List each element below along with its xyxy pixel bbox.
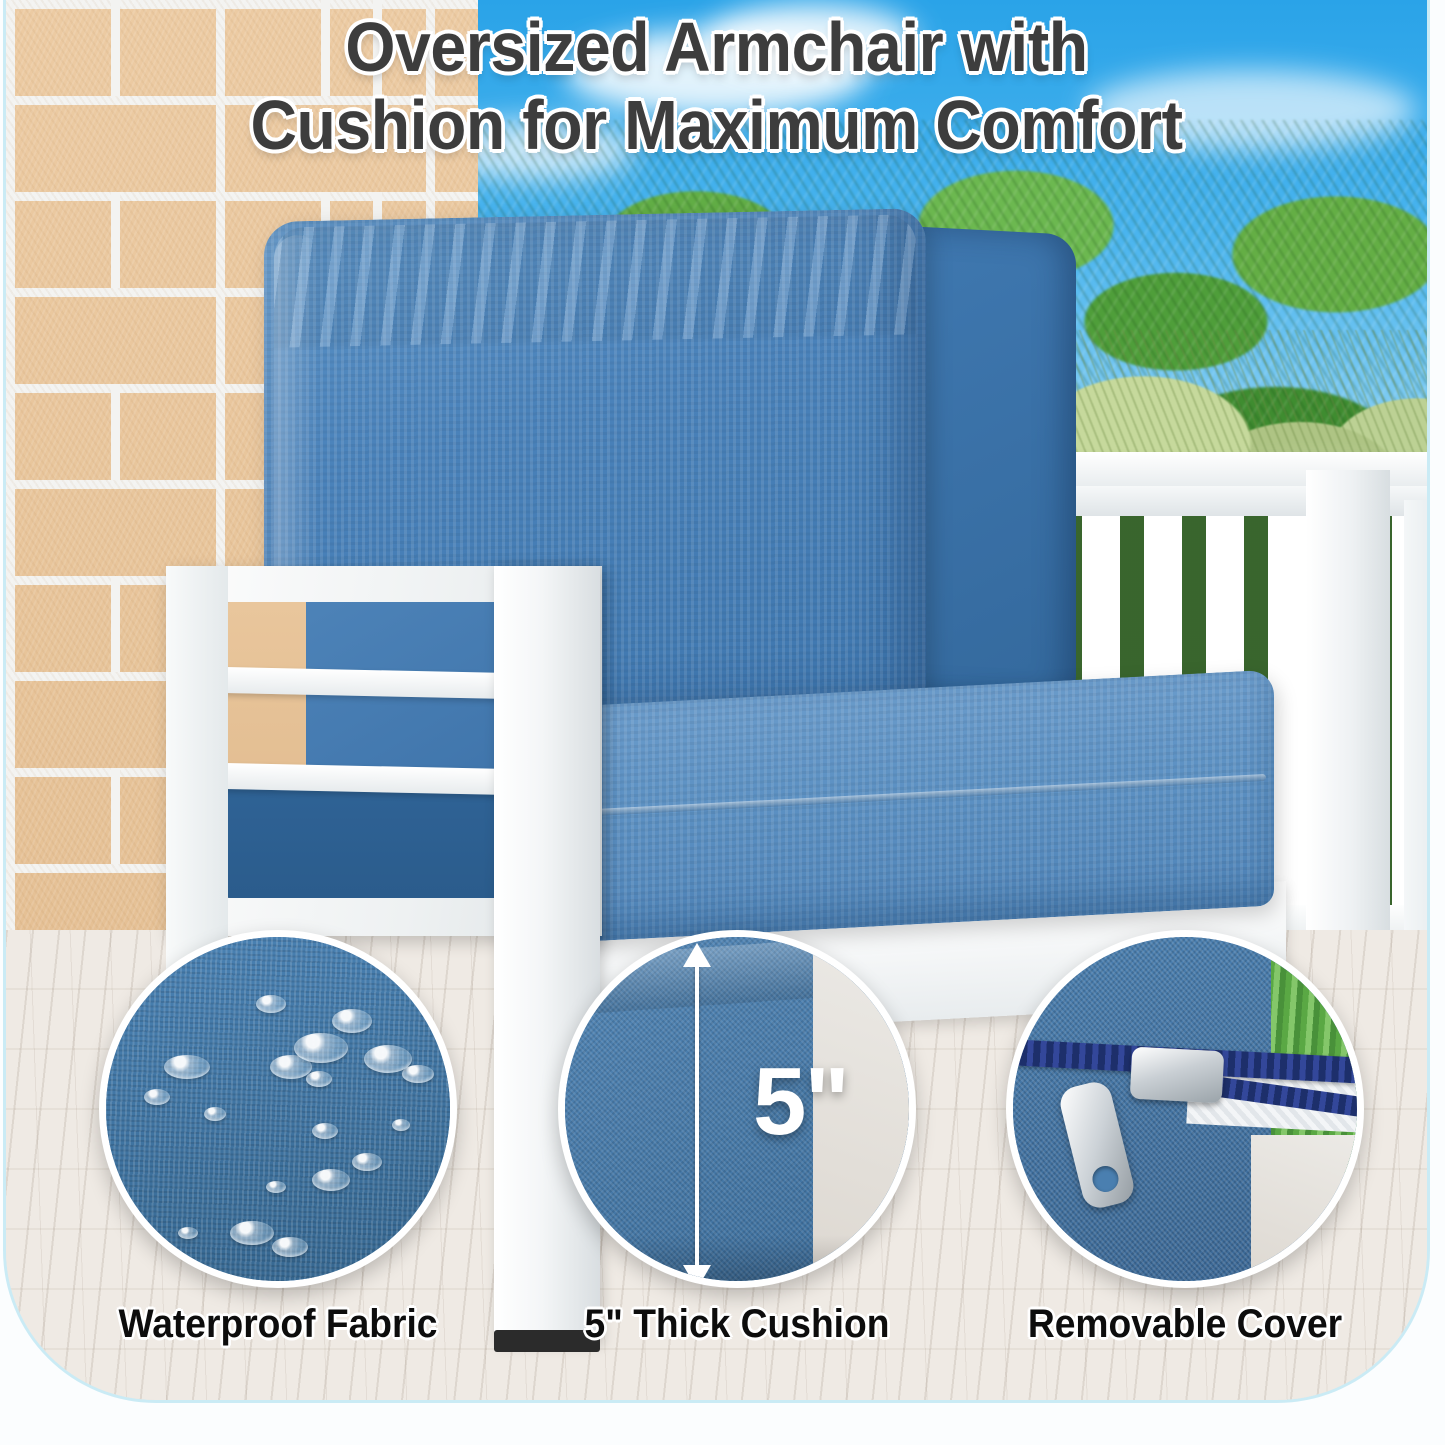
zipper-pull-tab	[1057, 1079, 1137, 1212]
water-droplets-icon	[106, 937, 450, 1281]
zipper-icon	[1013, 937, 1357, 1281]
product-photo-plate: Oversized Armchair with Cushion for Maxi…	[6, 0, 1427, 1400]
cushion-channel-texture	[274, 214, 916, 347]
cushion-fabric-closeup: 5"	[565, 937, 909, 1281]
feature-callout-thickness: 5" 5" Thick Cushion	[558, 930, 916, 1288]
armrest-cutout-seat-peek	[214, 778, 514, 898]
railing-post	[1404, 500, 1427, 970]
feature-caption-removable-cover: Removable Cover	[1028, 1302, 1342, 1347]
armrest-rear-post	[166, 566, 228, 976]
zipper-slider	[1130, 1047, 1225, 1104]
cloud-shape	[706, 4, 916, 74]
feature-image-bubble: 5"	[558, 930, 916, 1288]
dimension-arrow-icon	[695, 963, 699, 1269]
feature-caption-thickness: 5" Thick Cushion	[585, 1302, 890, 1347]
dimension-value-label: 5"	[753, 1047, 848, 1157]
cushion-welt-seam	[576, 774, 1266, 817]
feature-callout-waterproof: Waterproof Fabric	[99, 930, 457, 1288]
feature-image-bubble	[99, 930, 457, 1288]
feature-caption-waterproof: Waterproof Fabric	[119, 1302, 438, 1347]
armrest-cutout	[214, 602, 514, 898]
cushion-base-shadow	[558, 1235, 916, 1281]
railing-post	[1306, 470, 1390, 970]
product-marketing-image: Oversized Armchair with Cushion for Maxi…	[0, 0, 1445, 1445]
seat-cushion	[568, 670, 1274, 943]
floor-peek	[1251, 1135, 1361, 1285]
feature-image-bubble	[1006, 930, 1364, 1288]
feature-callout-removable-cover: Removable Cover	[1006, 930, 1364, 1288]
